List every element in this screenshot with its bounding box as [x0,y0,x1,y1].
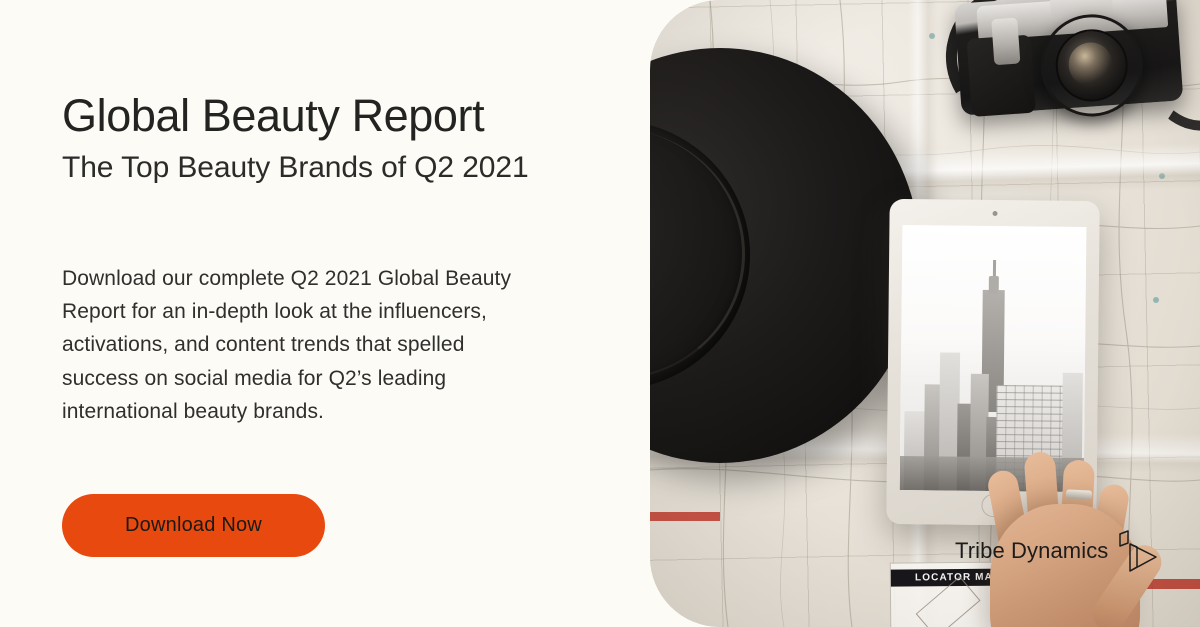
marketing-banner: Global Beauty Report The Top Beauty Bran… [0,0,1200,627]
brand-logo: Tribe Dynamics [955,528,1159,574]
body-text: Download our complete Q2 2021 Global Bea… [62,262,542,428]
camera-lens-glass [1067,41,1114,88]
tribe-dynamics-logo-mark [1117,528,1159,574]
page-title: Global Beauty Report [62,92,484,141]
brand-name: Tribe Dynamics [955,538,1108,564]
download-now-button[interactable]: Download Now [62,494,325,557]
finger-ring [1066,489,1092,499]
map-red-marking [650,512,720,521]
vintage-camera [945,0,1192,134]
text-column: Global Beauty Report The Top Beauty Bran… [0,0,650,627]
hero-photo: LOCATOR MAP Tribe Dynamics [650,0,1200,627]
camera-winder-knob [991,18,1020,66]
subtitle: The Top Beauty Brands of Q2 2021 [62,149,542,187]
tablet-front-camera [992,211,997,216]
camera-lens-barrel [1053,27,1130,104]
camera-body [954,0,1183,116]
